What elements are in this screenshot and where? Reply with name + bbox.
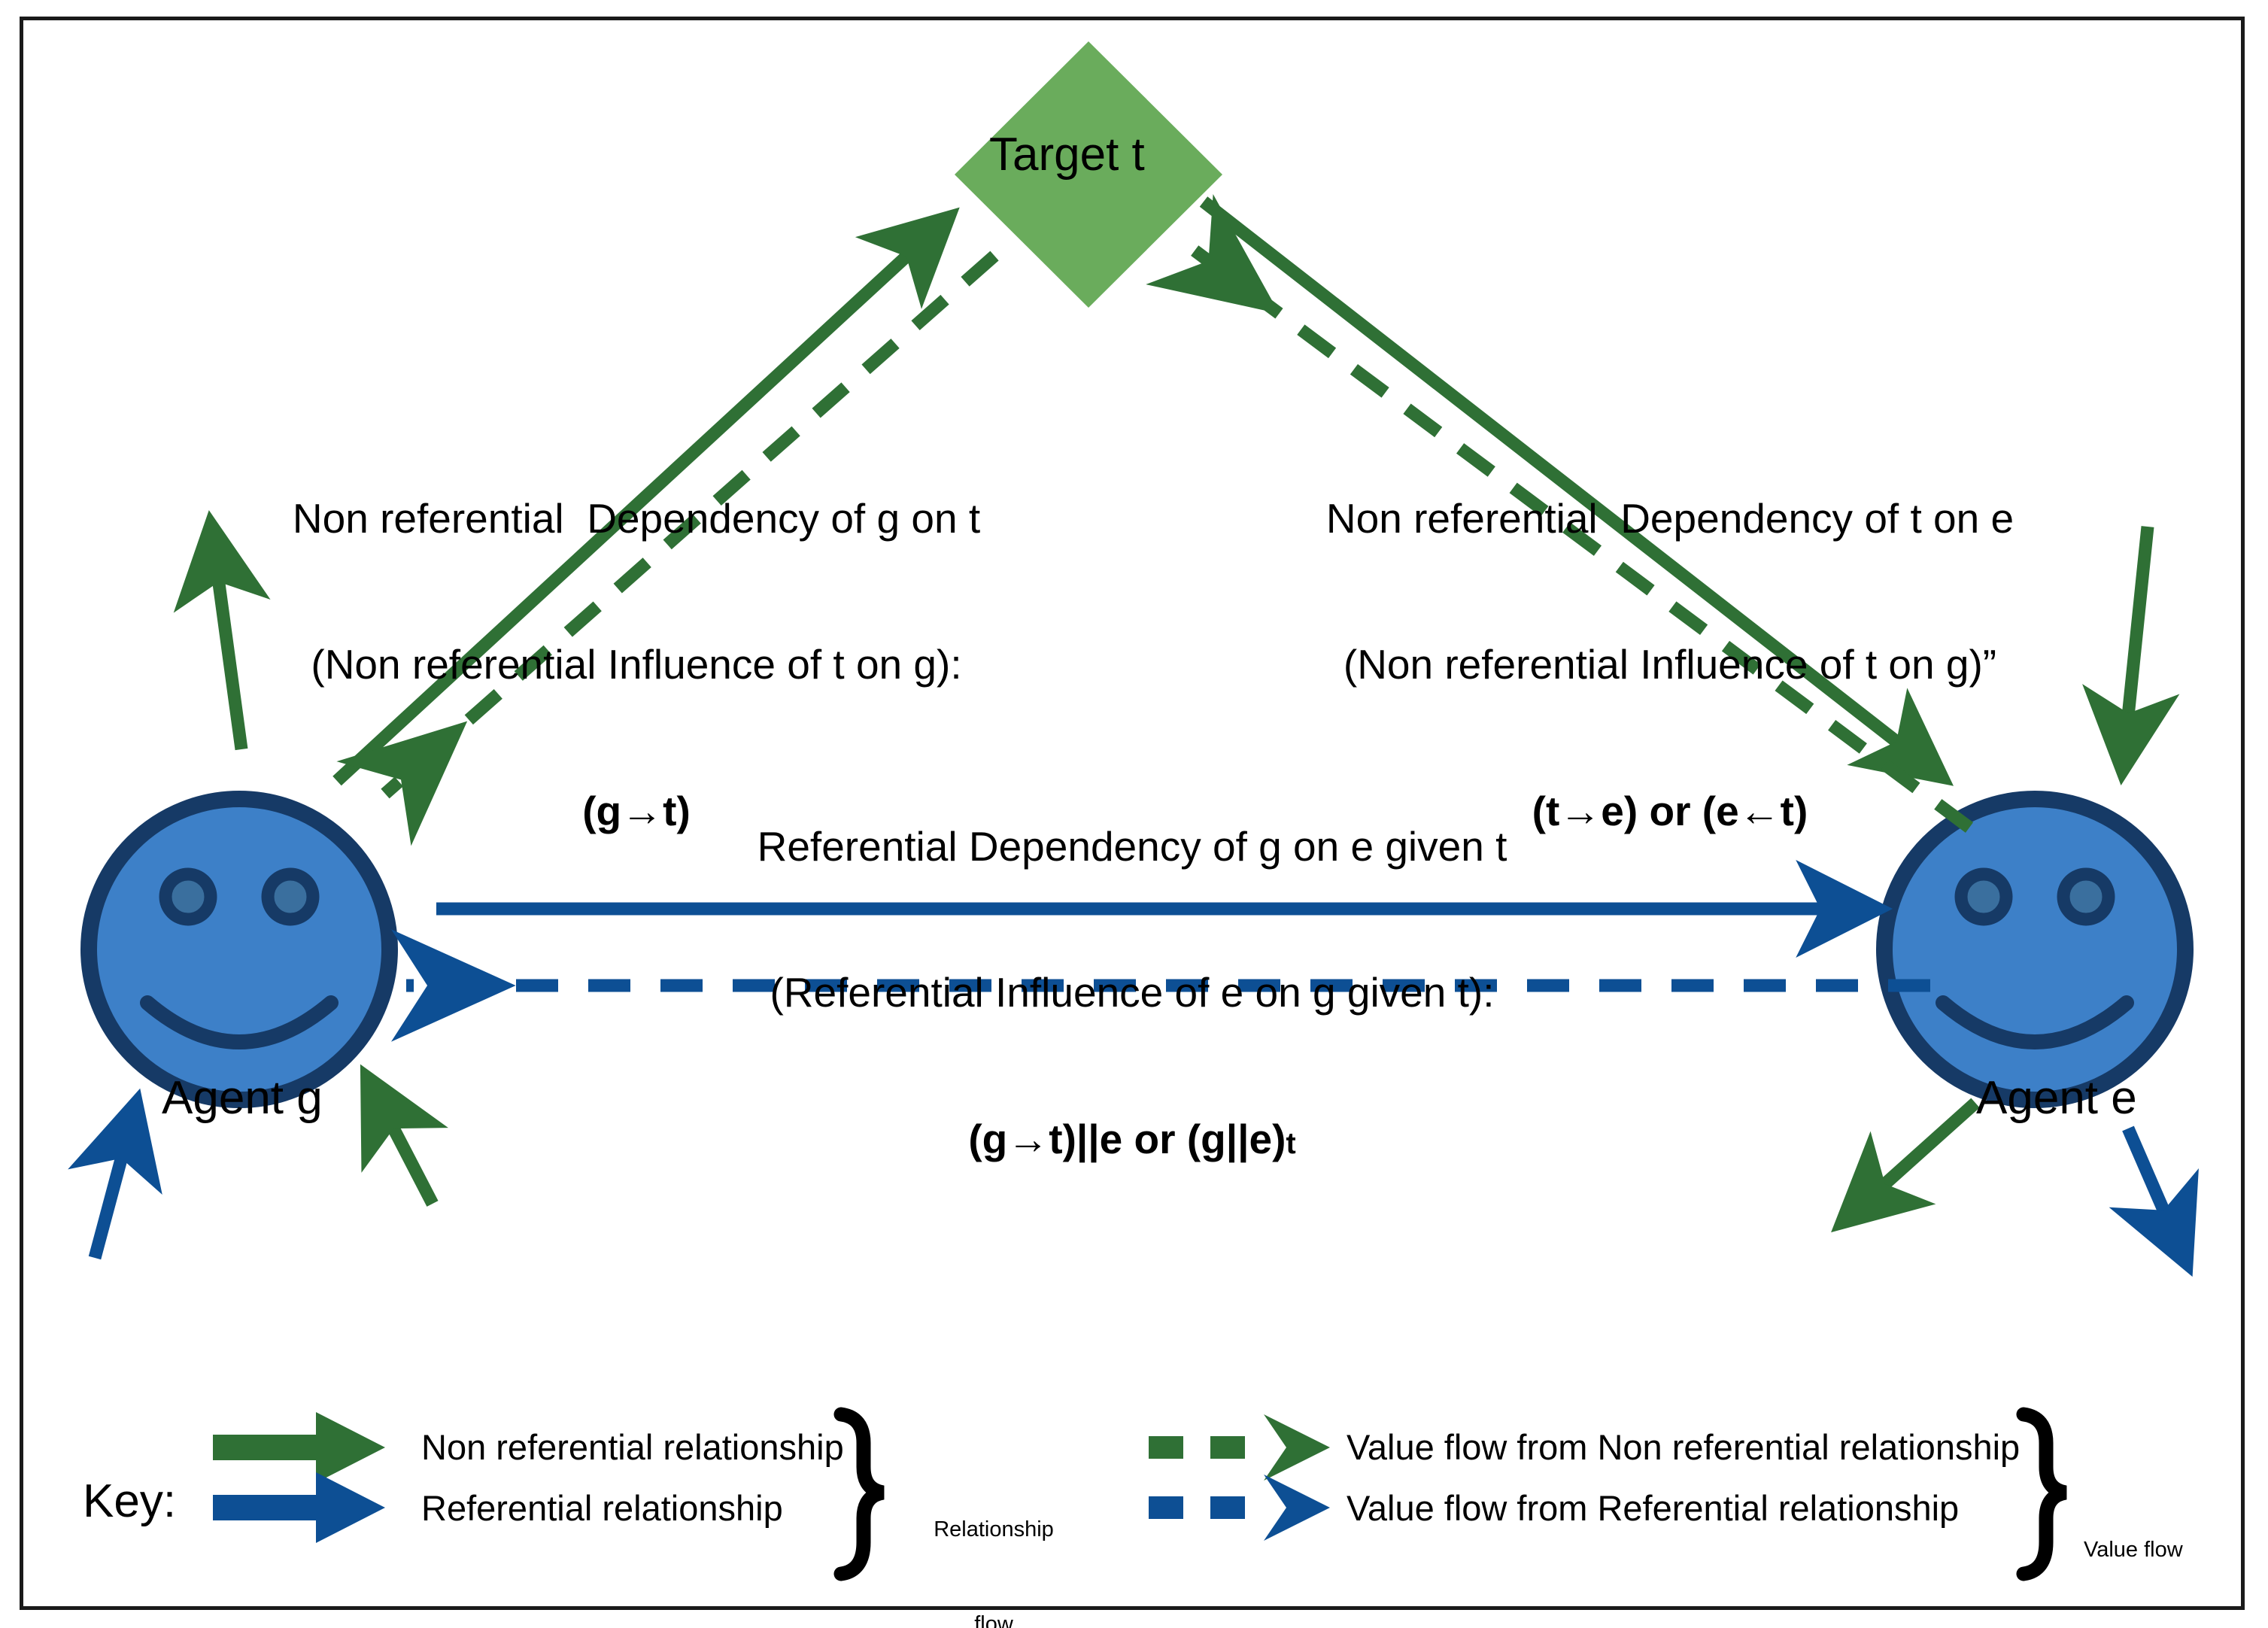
arrow-e-out-lower-right[interactable] (2128, 1128, 2185, 1260)
key-item-label-ref-dashed: Value flow from Referential relationship (1347, 1487, 1959, 1529)
brace-value-flow (2024, 1414, 2066, 1574)
key-item-label-ref-solid: Referential relationship (421, 1487, 783, 1529)
edge-label-left-line2: (Non referential Influence of t on g): (238, 640, 1035, 689)
key-swatch-nonref-solid (213, 1412, 385, 1483)
arrow-e-out-lower-left[interactable] (1844, 1103, 1975, 1220)
edge-label-center-formula: (g→t)||e or (g||e)t (681, 1115, 1583, 1164)
key-brace-val-line1: Value flow (2084, 1534, 2264, 1566)
key-swatch-ref-dashed (1149, 1475, 1330, 1541)
agent-e-label: Agent e (1976, 1071, 2137, 1125)
brace-relationship-flow (841, 1414, 883, 1574)
diagram-canvas: Target t Agent g Agent e Non referential… (0, 0, 2268, 1628)
edge-label-center-line1: Referential Dependency of g on e given t (681, 822, 1583, 871)
arrow-g-out-up[interactable] (211, 528, 241, 749)
key-brace-rel-line1: Relationship (900, 1514, 1088, 1545)
key-item-label-nonref-solid: Non referential relationship (421, 1426, 844, 1468)
target-node-label: Target t (989, 128, 1145, 181)
center-formula-b-subscript: t (1286, 1127, 1295, 1160)
center-formula-a: (g→t)||e (968, 1116, 1122, 1162)
key-item-label-nonref-dashed: Value flow from Non referential relation… (1347, 1426, 2020, 1468)
edge-label-right-line1: Non referential Dependency of t on e (1264, 494, 2076, 543)
arrow-g-in-lower-left[interactable] (95, 1106, 135, 1258)
key-brace-label-value-flow: Value flow (2084, 1471, 2264, 1628)
arrow-e-in-upper-right[interactable] (2123, 527, 2148, 767)
edge-label-left-line1: Non referential Dependency of g on t (238, 494, 1035, 543)
center-formula-or: or (1122, 1116, 1187, 1162)
center-formula-b: (g||e) (1187, 1116, 1286, 1162)
key-title: Key: (83, 1475, 176, 1528)
edge-label-center: Referential Dependency of g on e given t… (681, 724, 1583, 1262)
key-swatch-nonref-dashed (1149, 1414, 1330, 1481)
key-brace-rel-line2: flow (900, 1608, 1088, 1628)
agent-g-label: Agent g (162, 1071, 323, 1125)
edge-label-right-line2: (Non referential Influence of t on g)” (1264, 640, 2076, 689)
arrow-g-in-lower-right[interactable] (369, 1080, 433, 1204)
edge-label-center-line2: (Referential Influence of e on g given t… (681, 968, 1583, 1017)
key-swatch-ref-solid (213, 1472, 385, 1543)
key-brace-label-relationship-flow: Relationship flow (900, 1450, 1088, 1628)
